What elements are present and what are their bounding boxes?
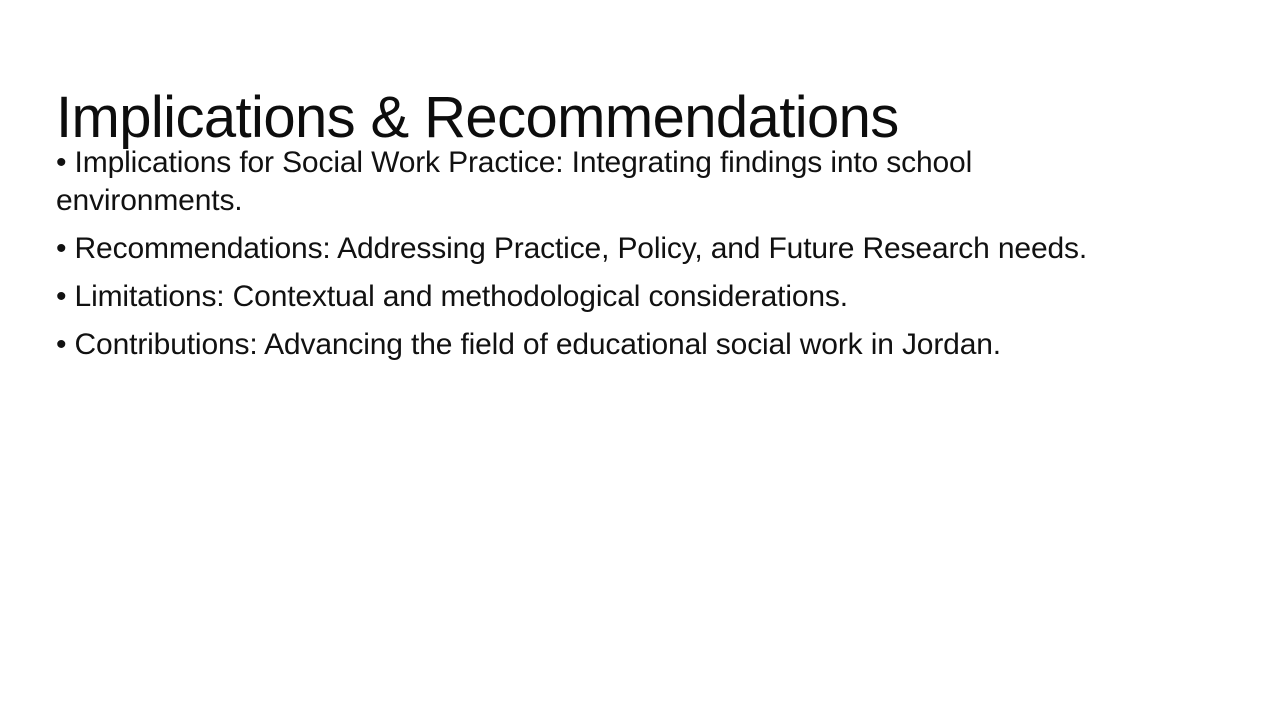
list-item: • Limitations: Contextual and methodolog… — [56, 278, 1146, 316]
bullet-list: • Implications for Social Work Practice:… — [56, 144, 1146, 364]
list-item-text: Implications for Social Work Practice: I… — [56, 146, 972, 217]
bullet-point-icon: • — [56, 328, 66, 361]
page-title: Implications & Recommendations — [56, 87, 1196, 150]
list-item-text: Limitations: Contextual and methodologic… — [75, 280, 848, 313]
list-item: • Recommendations: Addressing Practice, … — [56, 230, 1146, 268]
list-item: • Contributions: Advancing the field of … — [56, 326, 1146, 364]
list-item-text: Recommendations: Addressing Practice, Po… — [75, 232, 1088, 265]
list-item-text: Contributions: Advancing the field of ed… — [75, 328, 1001, 361]
slide-canvas: Implications & Recommendations • Implica… — [0, 0, 1280, 720]
bullet-point-icon: • — [56, 280, 66, 313]
bullet-point-icon: • — [56, 146, 66, 179]
bullet-point-icon: • — [56, 232, 66, 265]
list-item: • Implications for Social Work Practice:… — [56, 144, 1146, 220]
